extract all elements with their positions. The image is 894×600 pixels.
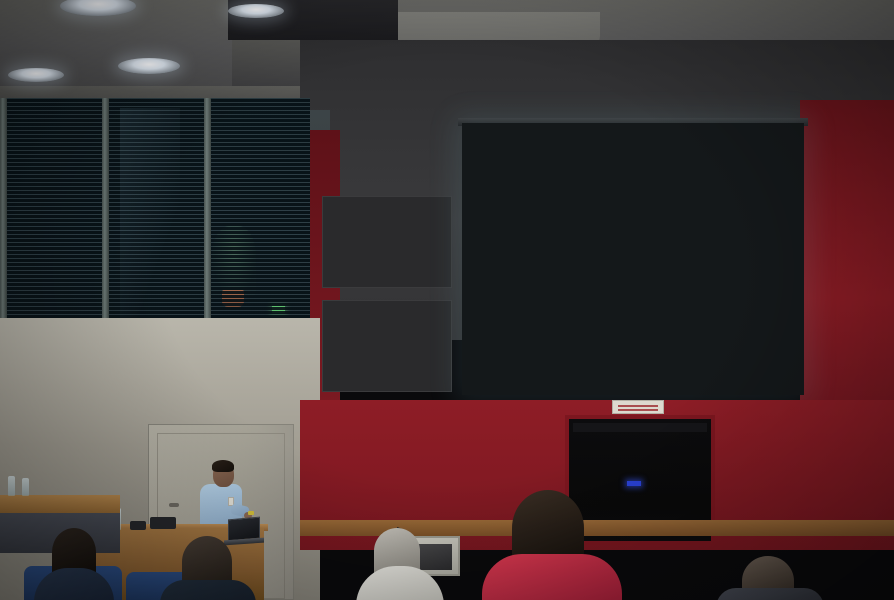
av-cabinet-sign (612, 400, 664, 414)
desk-equipment (130, 521, 146, 530)
glass-reflection (120, 108, 180, 318)
side-desk (0, 495, 120, 515)
av-cabinet-strip (573, 423, 707, 432)
presentation-clicker[interactable] (248, 511, 254, 515)
sign-line (618, 409, 658, 411)
presenter-hair (212, 460, 234, 472)
wall-panel (322, 196, 452, 288)
water-bottle (22, 478, 29, 496)
door-handle[interactable] (169, 503, 179, 507)
sign-line (618, 405, 658, 407)
ceiling-downlight (118, 58, 180, 74)
ceiling-downlight (8, 68, 64, 82)
audience-member-right-body (716, 588, 824, 600)
window-mullion (0, 98, 7, 326)
interior-window-bank (0, 98, 310, 326)
red-wall-right (800, 100, 894, 430)
window-mullion (102, 98, 109, 326)
projection-screen: 1. Introduction Motivation: Smart materi… (462, 123, 804, 395)
audience-member-red-shirt (482, 554, 622, 600)
av-status-led-icon (627, 481, 641, 486)
wall-panel (322, 300, 452, 392)
water-bottle (8, 476, 15, 496)
ceiling-downlight (228, 4, 284, 18)
lecture-hall-photo: From 7:30 BREAKFAST From 12:00/12:30 LUN… (0, 0, 894, 600)
desk-equipment (150, 517, 176, 529)
window-mullion (204, 98, 211, 326)
audience-member-grey-hair-body (160, 580, 256, 600)
